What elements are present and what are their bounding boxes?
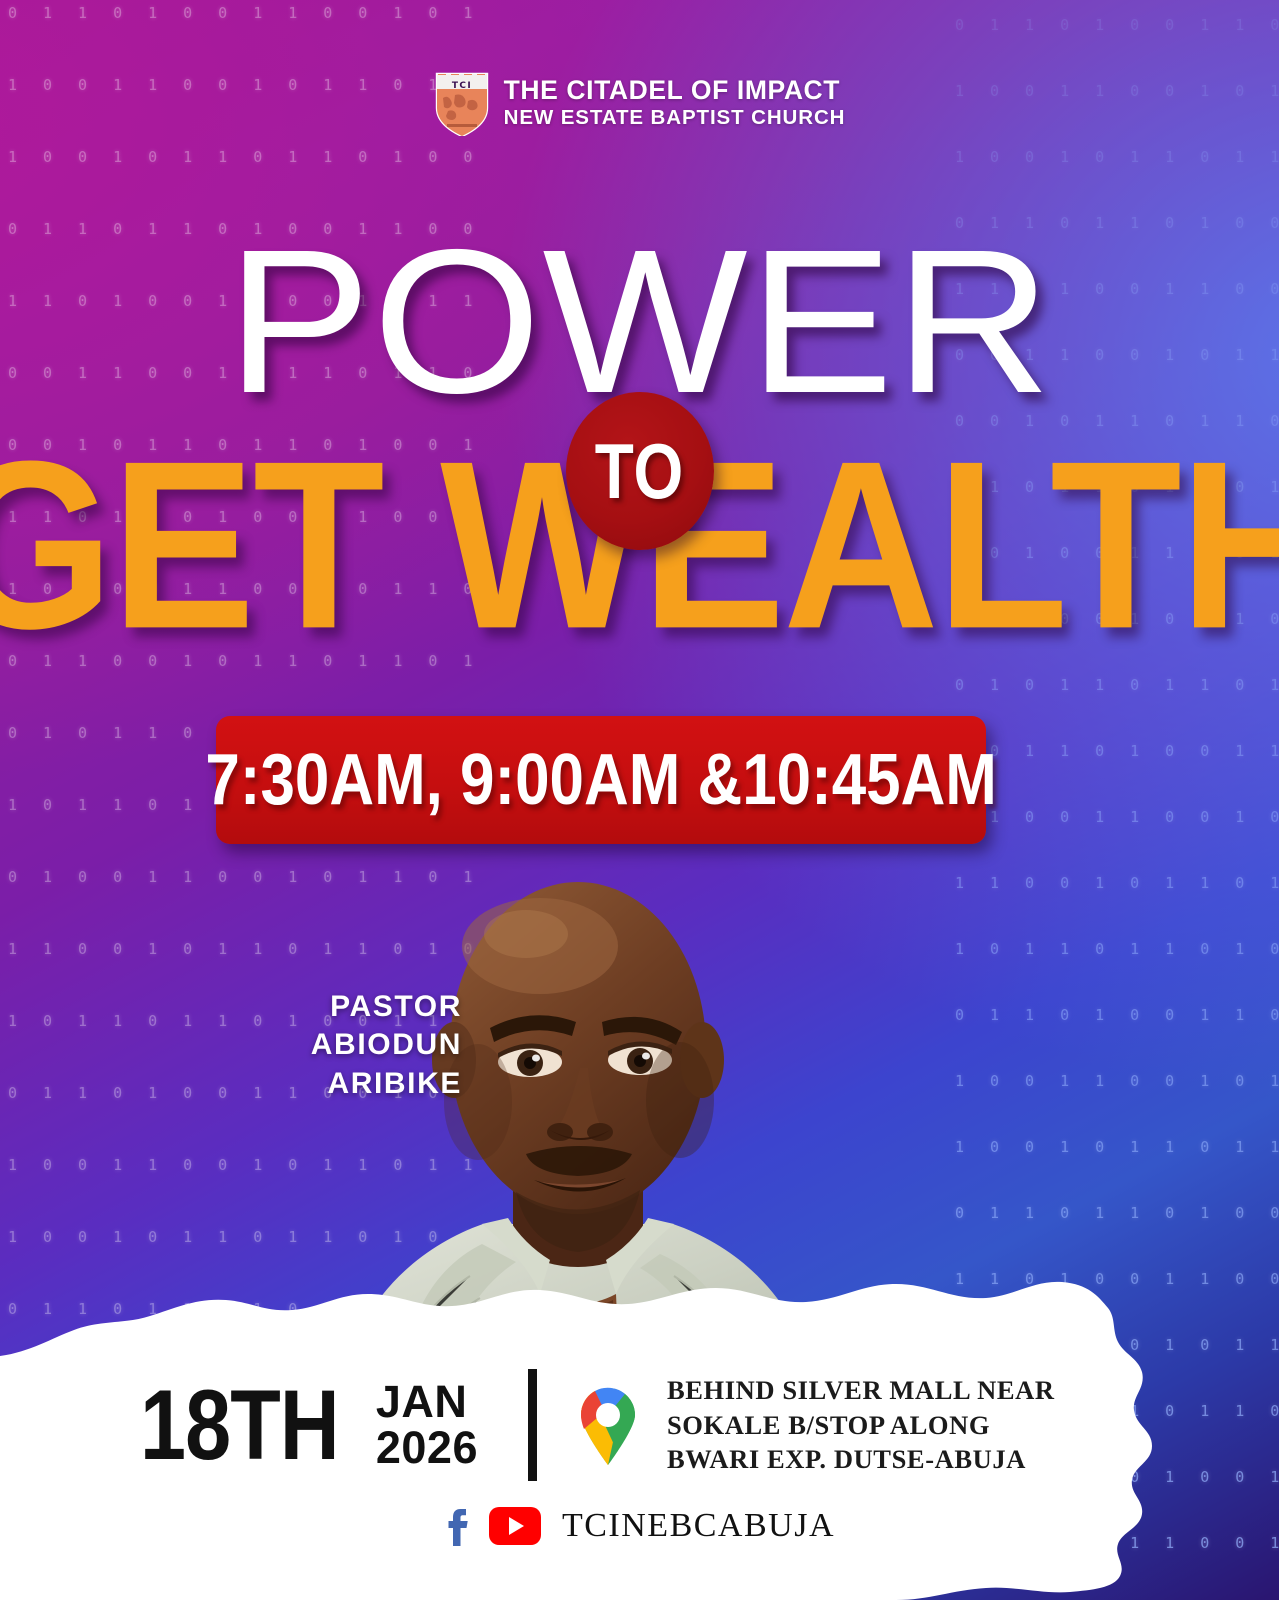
headline-word-power: POWER bbox=[0, 228, 1279, 417]
service-times-banner: 7:30AM, 9:00AM &10:45AM bbox=[216, 716, 986, 844]
google-maps-pin-icon bbox=[575, 1385, 641, 1465]
youtube-icon[interactable] bbox=[489, 1507, 541, 1545]
headline-connector-label: TO bbox=[595, 432, 684, 510]
service-times-label: 7:30AM, 9:00AM &10:45AM bbox=[205, 744, 996, 816]
event-year: 2026 bbox=[376, 1425, 478, 1471]
headline-block: POWER TO GET WEALTH bbox=[0, 228, 1279, 619]
venue-address: BEHIND SILVER MALL NEAR SOKALE B/STOP AL… bbox=[667, 1373, 1055, 1478]
social-links-row: TCINEBCABUJA bbox=[0, 1492, 1279, 1560]
citadel-shield-logo-icon: TCI bbox=[434, 70, 490, 136]
headline-connector-badge: TO bbox=[566, 392, 714, 550]
facebook-icon[interactable] bbox=[444, 1506, 474, 1546]
church-name-secondary: NEW ESTATE BAPTIST CHURCH bbox=[504, 106, 846, 130]
church-name-block: THE CITADEL OF IMPACT NEW ESTATE BAPTIST… bbox=[504, 76, 846, 129]
church-name-primary: THE CITADEL OF IMPACT bbox=[504, 76, 846, 105]
event-flyer: 0110100110010110011001011011100101101101… bbox=[0, 0, 1279, 1600]
date-and-venue-row: 18TH JAN 2026 BEHIND SILVER MALL NEAR SO… bbox=[0, 1350, 1279, 1500]
speaker-name: PASTOR ABIODUN ARIBIKE bbox=[230, 988, 462, 1103]
church-header: TCI THE CITADEL OF IMPACT NEW ESTATE BAP… bbox=[0, 70, 1279, 136]
info-banner-content: 18TH JAN 2026 BEHIND SILVER MALL NEAR SO… bbox=[0, 1350, 1279, 1600]
event-month-year: JAN 2026 bbox=[376, 1379, 478, 1471]
event-day: 18TH bbox=[140, 1379, 339, 1471]
social-handle: TCINEBCABUJA bbox=[562, 1507, 835, 1545]
vertical-divider bbox=[528, 1369, 537, 1481]
event-month: JAN bbox=[376, 1379, 478, 1425]
